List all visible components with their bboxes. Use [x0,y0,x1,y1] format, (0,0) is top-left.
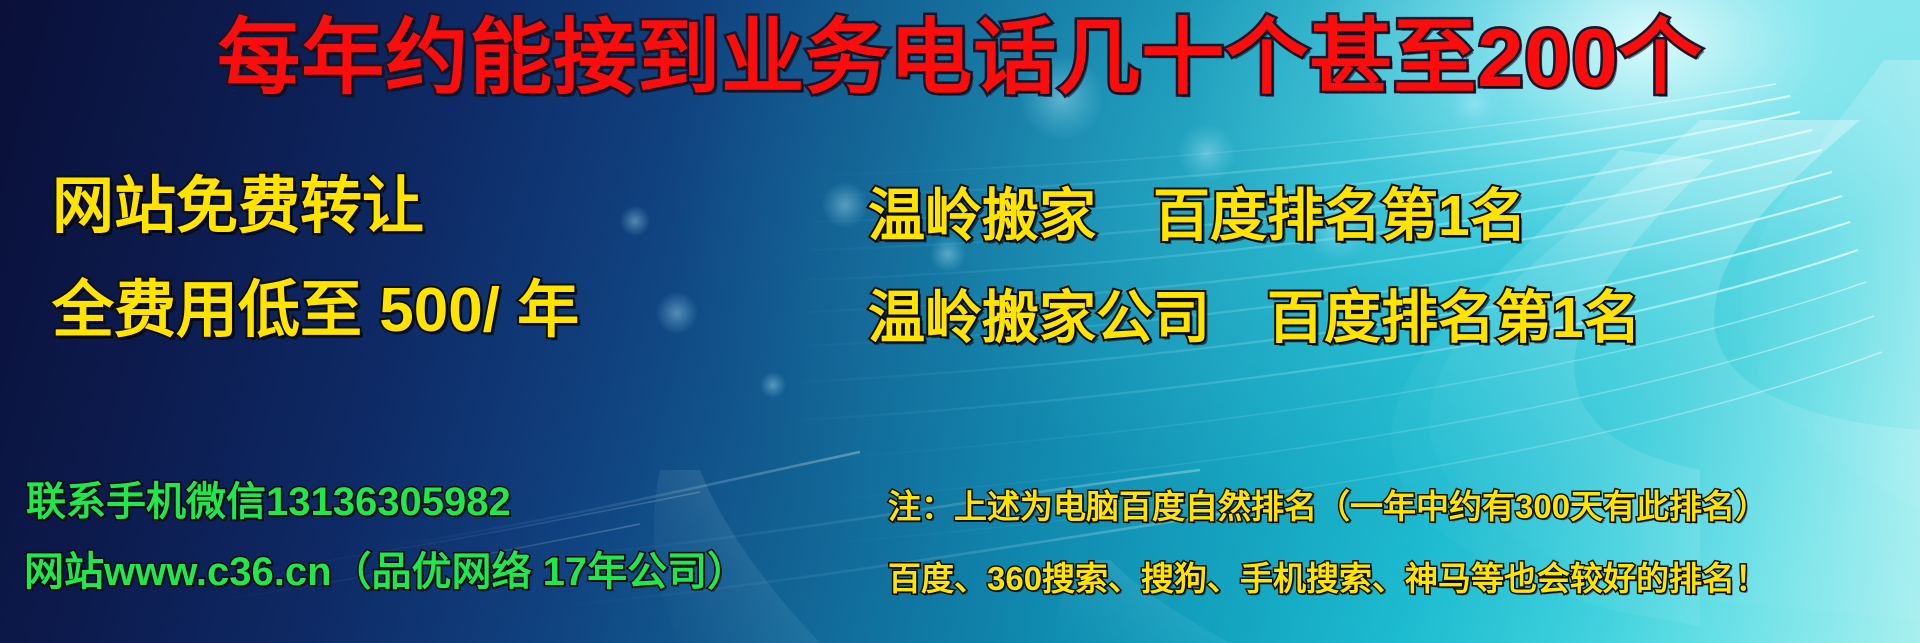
offer-free-transfer-text: 网站免费转让 [52,176,424,238]
contact-phone-wechat: 联系手机微信13136305982 [26,482,511,522]
offer-price-text: 全费用低至 500/ 年 [52,280,579,342]
promo-banner: 每年约能接到业务电话几十个甚至200个 网站免费转让 全费用低至 500/ 年 … [0,0,1920,643]
bokeh-dot [760,372,786,398]
bokeh-dot [620,206,650,236]
banner-headline: 每年约能接到业务电话几十个甚至200个 [0,16,1920,99]
bokeh-dot [656,292,698,334]
ranking-claim-line-1: 温岭搬家 百度排名第1名 [868,188,1527,245]
footnote-other-engines: 百度、360搜索、搜狗、手机搜索、神马等也会较好的排名！ [888,562,1768,595]
bokeh-dot [1178,124,1236,182]
footnote-ranking-disclaimer: 注：上述为电脑百度自然排名（一年中约有300天有此排名） [888,490,1768,523]
contact-website: 网站www.c36.cn（品优网络 17年公司） [24,552,747,592]
ranking-claim-line-2: 温岭搬家公司 百度排名第1名 [868,290,1641,347]
bokeh-dot [822,182,868,228]
